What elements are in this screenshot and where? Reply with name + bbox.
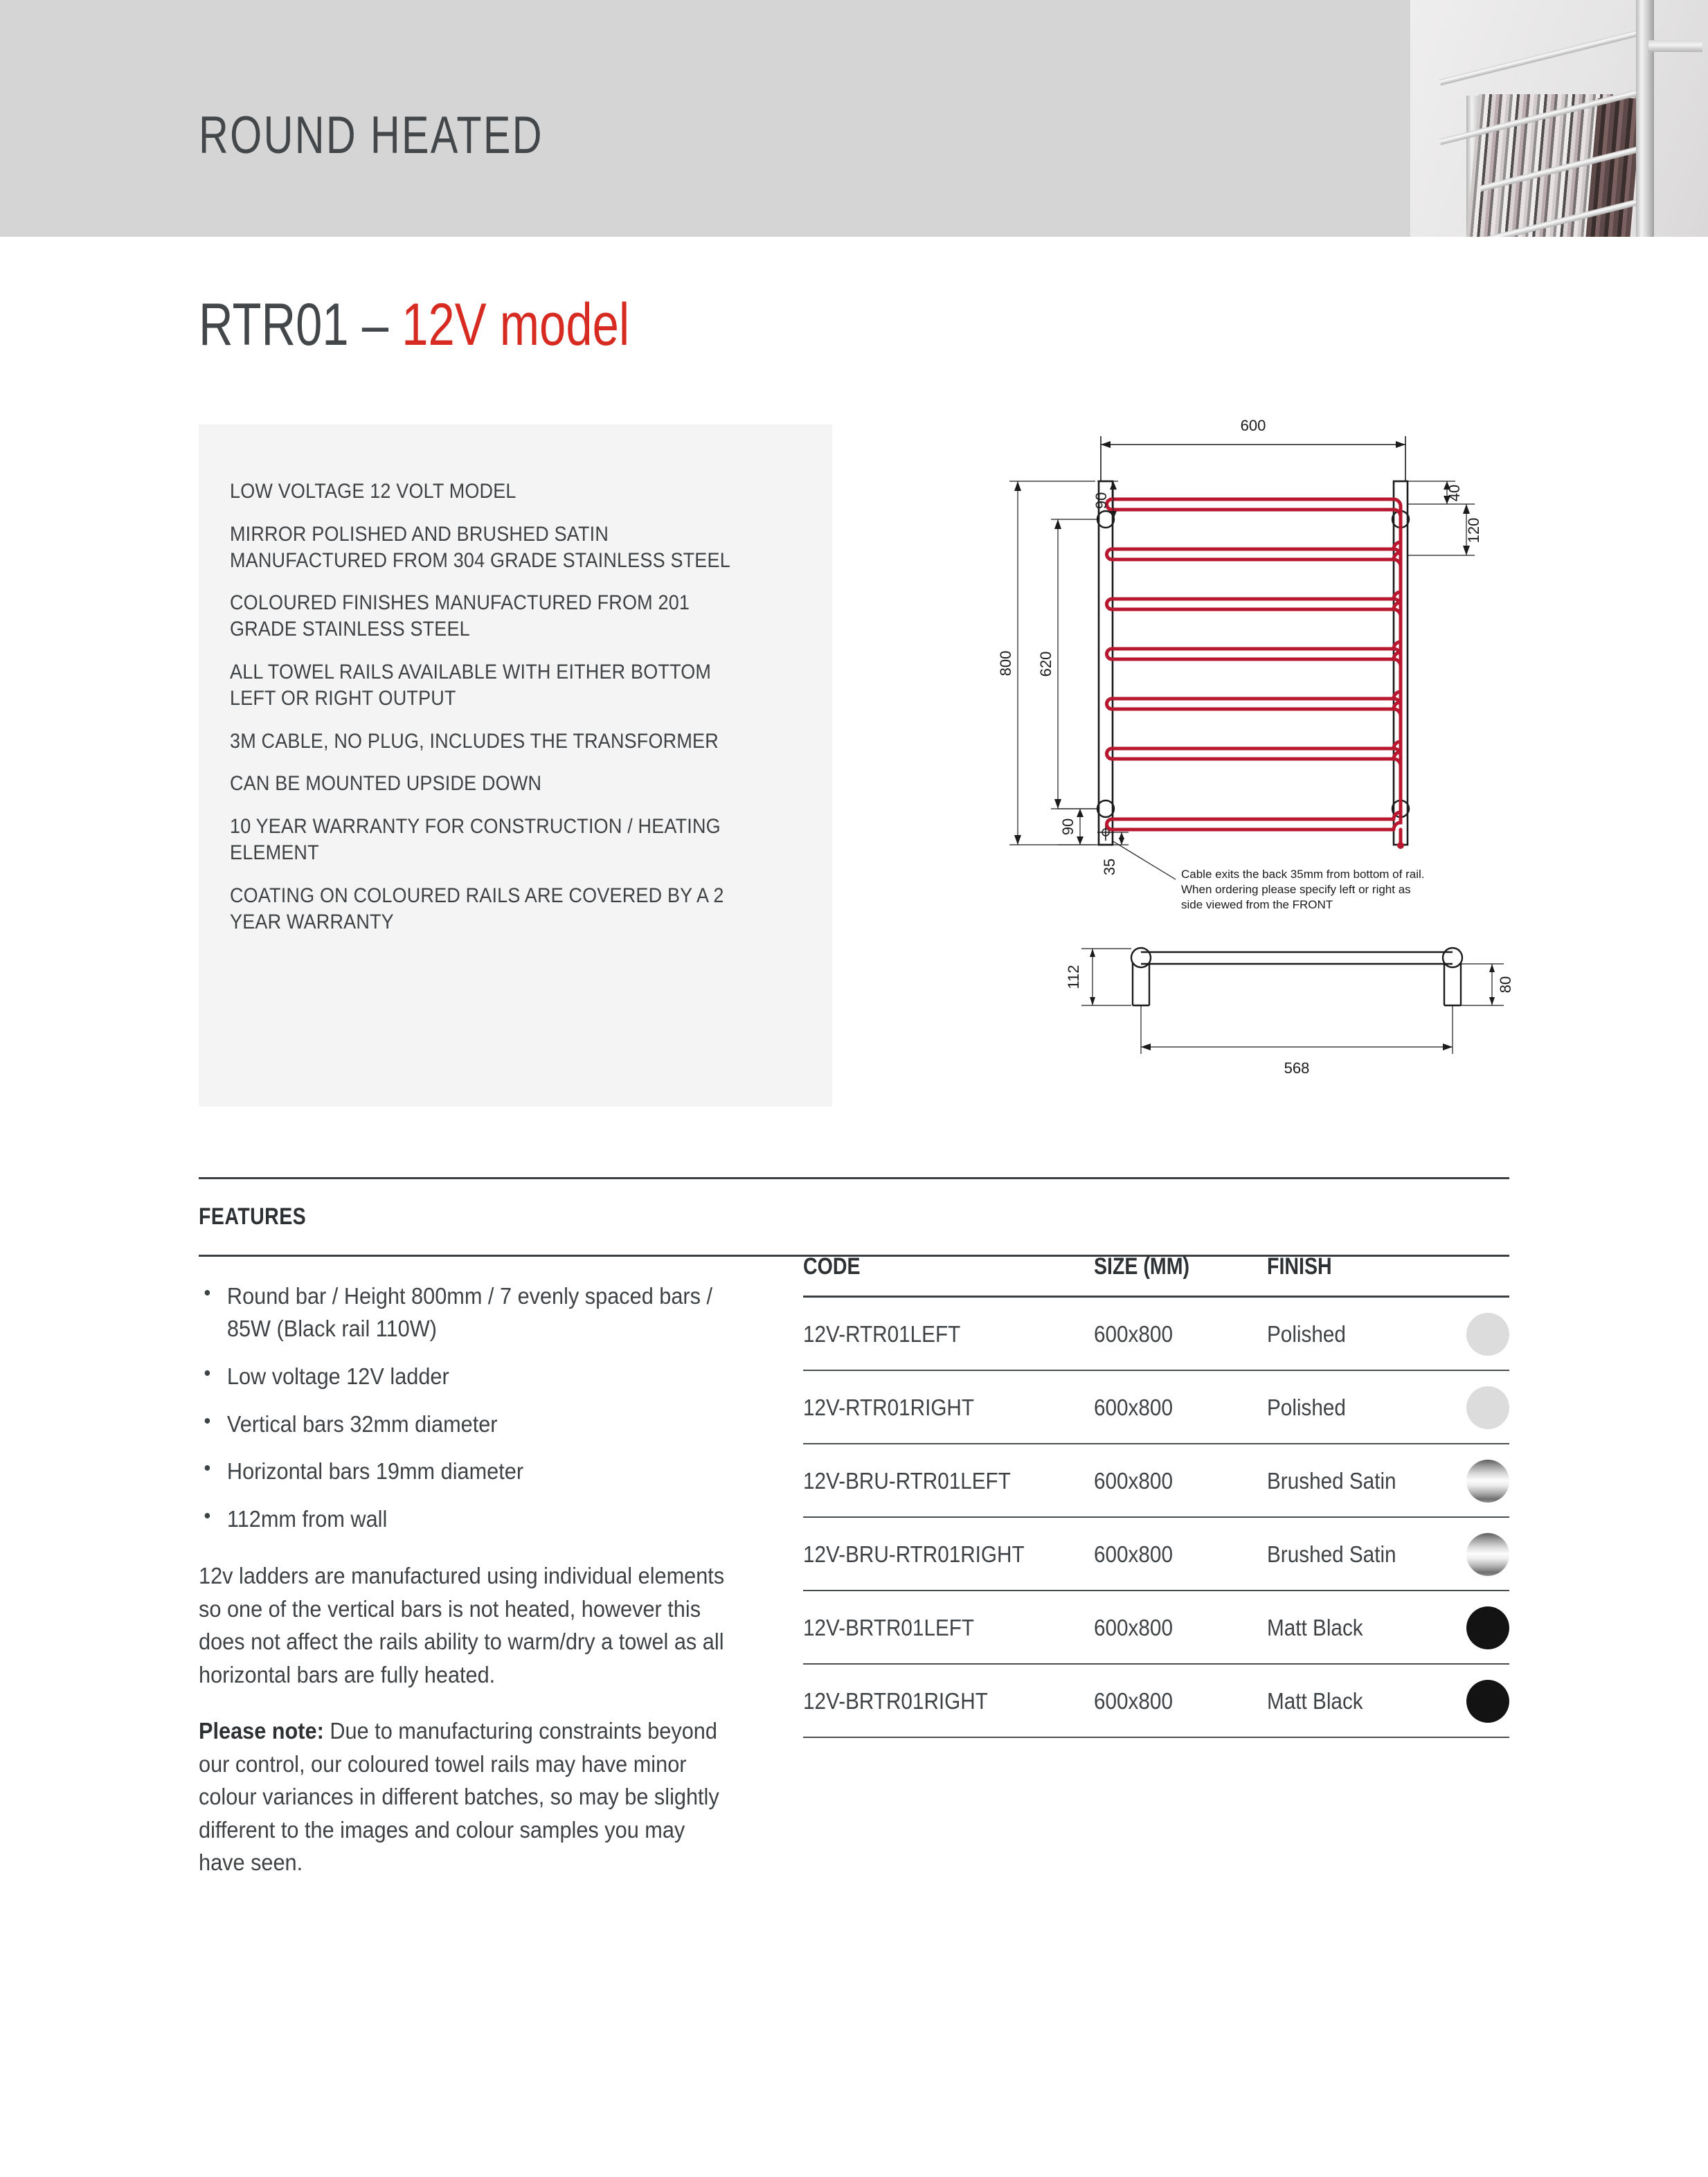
photo-wall-bracket xyxy=(1648,40,1702,52)
product-title: RTR01 – 12V model xyxy=(199,291,629,359)
finish-swatch-matt-black xyxy=(1466,1606,1509,1649)
spec-item: COATING ON COLOURED RAILS ARE COVERED BY… xyxy=(230,883,741,935)
features-list: Round bar / Height 800mm / 7 evenly spac… xyxy=(199,1280,773,1536)
cell-code: 12V-RTR01RIGHT xyxy=(803,1370,1094,1444)
feature-item: Low voltage 12V ladder xyxy=(199,1361,733,1393)
cell-size: 600x800 xyxy=(1094,1444,1267,1517)
product-code: RTR01 xyxy=(199,292,349,358)
table-row[interactable]: 12V-BRU-RTR01LEFT 600x800 Brushed Satin xyxy=(803,1444,1509,1517)
table-row[interactable]: 12V-BRU-RTR01RIGHT 600x800 Brushed Satin xyxy=(803,1517,1509,1591)
product-title-separator: – xyxy=(362,292,388,358)
dim-label-90-top: 90 xyxy=(1093,492,1110,509)
cell-code: 12V-BRTR01RIGHT xyxy=(803,1664,1094,1737)
spec-item: COLOURED FINISHES MANUFACTURED FROM 201 … xyxy=(230,590,741,643)
features-heading: FEATURES xyxy=(199,1177,681,1230)
cable-note-line-2: When ordering please specify left or rig… xyxy=(1181,883,1411,896)
cable-note-line-3: side viewed from the FRONT xyxy=(1181,898,1333,911)
cell-swatch xyxy=(1440,1664,1509,1737)
table-header-row: CODE SIZE (MM) FINISH xyxy=(803,1227,1509,1297)
cell-finish: Matt Black xyxy=(1267,1664,1440,1737)
finish-swatch-polished xyxy=(1466,1386,1509,1429)
element-info-paragraph: 12v ladders are manufactured using indiv… xyxy=(199,1559,733,1691)
dim-label-620: 620 xyxy=(1037,652,1054,677)
header-cell-swatch xyxy=(1440,1227,1509,1297)
cell-swatch xyxy=(1440,1370,1509,1444)
photo-rail-right-post xyxy=(1636,0,1654,237)
dim-label-800: 800 xyxy=(997,651,1014,677)
finish-swatch-polished xyxy=(1466,1313,1509,1356)
table-row[interactable]: 12V-RTR01LEFT 600x800 Polished xyxy=(803,1297,1509,1371)
header-product-photo xyxy=(1410,0,1708,237)
cell-finish: Polished xyxy=(1267,1370,1440,1444)
spec-item: LOW VOLTAGE 12 VOLT MODEL xyxy=(230,478,741,505)
spec-item: MIRROR POLISHED AND BRUSHED SATIN MANUFA… xyxy=(230,521,741,574)
cell-finish: Matt Black xyxy=(1267,1591,1440,1664)
dim-label-80: 80 xyxy=(1497,976,1514,993)
feature-item: Round bar / Height 800mm / 7 evenly spac… xyxy=(199,1280,733,1345)
finish-swatch-brushed-satin xyxy=(1466,1533,1509,1576)
cable-note-line-1: Cable exits the back 35mm from bottom of… xyxy=(1181,868,1424,881)
cell-finish: Brushed Satin xyxy=(1267,1444,1440,1517)
side-view-technical-drawing: 112 80 568 xyxy=(1039,928,1523,1087)
spec-item: ALL TOWEL RAILS AVAILABLE WITH EITHER BO… xyxy=(230,659,741,712)
feature-item: Horizontal bars 19mm diameter xyxy=(199,1455,733,1488)
cell-finish: Brushed Satin xyxy=(1267,1517,1440,1591)
spec-item: 3M CABLE, NO PLUG, INCLUDES THE TRANSFOR… xyxy=(230,728,741,755)
cell-finish: Polished xyxy=(1267,1297,1440,1371)
cell-swatch xyxy=(1440,1297,1509,1371)
header-cell-size: SIZE (MM) xyxy=(1094,1227,1267,1297)
dim-label-568: 568 xyxy=(1284,1059,1310,1077)
header-cell-code: CODE xyxy=(803,1227,1094,1297)
product-code-table: CODE SIZE (MM) FINISH 12V-RTR01LEFT 600x… xyxy=(803,1227,1509,1738)
cell-swatch xyxy=(1440,1591,1509,1664)
feature-item: Vertical bars 32mm diameter xyxy=(199,1408,733,1441)
product-spec-page: ROUND HEATED RTR01 – 12V model LOW VOLTA… xyxy=(0,0,1708,2177)
features-column: FEATURES Round bar / Height 800mm / 7 ev… xyxy=(199,1177,773,1879)
cell-code: 12V-BRTR01LEFT xyxy=(803,1591,1094,1664)
product-model: 12V model xyxy=(402,292,629,358)
specification-box: LOW VOLTAGE 12 VOLT MODEL MIRROR POLISHE… xyxy=(199,424,832,1107)
dim-label-90-bottom: 90 xyxy=(1059,818,1077,835)
spec-item: 10 YEAR WARRANTY FOR CONSTRUCTION / HEAT… xyxy=(230,814,741,866)
dim-label-40: 40 xyxy=(1446,485,1463,501)
cell-code: 12V-BRU-RTR01RIGHT xyxy=(803,1517,1094,1591)
cell-size: 600x800 xyxy=(1094,1297,1267,1371)
cell-size: 600x800 xyxy=(1094,1517,1267,1591)
cell-swatch xyxy=(1440,1517,1509,1591)
cell-code: 12V-RTR01LEFT xyxy=(803,1297,1094,1371)
dim-label-120: 120 xyxy=(1465,518,1482,544)
spec-item: CAN BE MOUNTED UPSIDE DOWN xyxy=(230,771,741,797)
header-cell-finish: FINISH xyxy=(1267,1227,1440,1297)
specification-list: LOW VOLTAGE 12 VOLT MODEL MIRROR POLISHE… xyxy=(230,478,798,951)
product-code-table-column: CODE SIZE (MM) FINISH 12V-RTR01LEFT 600x… xyxy=(803,1177,1509,1738)
feature-item: 112mm from wall xyxy=(199,1503,733,1536)
cell-size: 600x800 xyxy=(1094,1664,1267,1737)
please-note-paragraph: Please note: Due to manufacturing constr… xyxy=(199,1714,733,1879)
page-header-title: ROUND HEATED xyxy=(199,105,543,165)
please-note-label: Please note: xyxy=(199,1718,324,1744)
cell-swatch xyxy=(1440,1444,1509,1517)
table-row[interactable]: 12V-RTR01RIGHT 600x800 Polished xyxy=(803,1370,1509,1444)
table-row[interactable]: 12V-BRTR01RIGHT 600x800 Matt Black xyxy=(803,1664,1509,1737)
dim-label-112: 112 xyxy=(1065,965,1082,989)
table-row[interactable]: 12V-BRTR01LEFT 600x800 Matt Black xyxy=(803,1591,1509,1664)
dim-label-35: 35 xyxy=(1101,859,1118,875)
cell-size: 600x800 xyxy=(1094,1591,1267,1664)
cell-size: 600x800 xyxy=(1094,1370,1267,1444)
cell-code: 12V-BRU-RTR01LEFT xyxy=(803,1444,1094,1517)
finish-swatch-brushed-satin xyxy=(1466,1460,1509,1503)
dim-label-600: 600 xyxy=(1241,417,1266,434)
finish-swatch-matt-black xyxy=(1466,1680,1509,1723)
